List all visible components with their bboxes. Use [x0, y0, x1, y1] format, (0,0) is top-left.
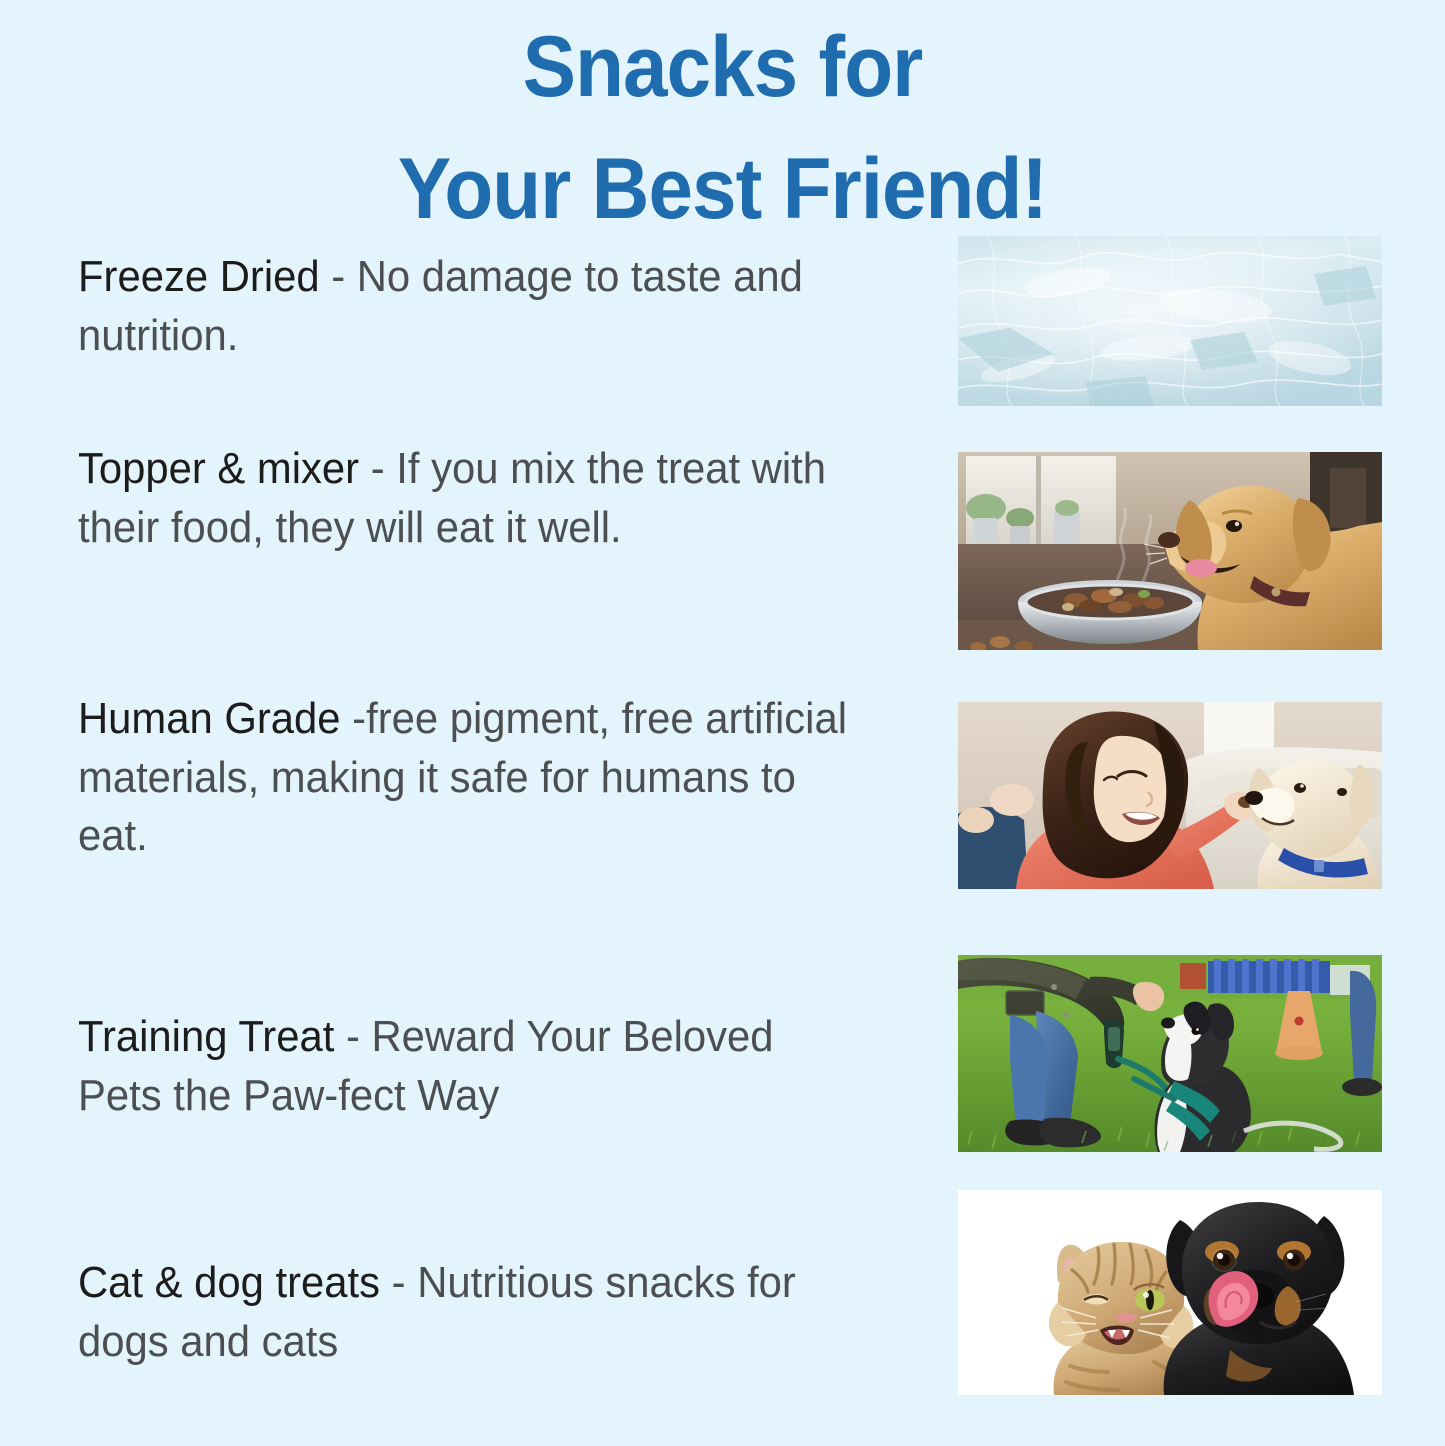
cat-and-dog-portrait-photo — [958, 1190, 1382, 1395]
feature-text-human-grade: Human Grade -free pigment, free artifici… — [78, 690, 867, 866]
title-line-2: Your Best Friend! — [51, 128, 1395, 250]
feature-lead-cat-dog-treats: Cat & dog treats — [78, 1258, 380, 1307]
feature-text-training-treat: Training Treat - Reward Your Beloved Pet… — [78, 1008, 867, 1125]
feature-lead-topper-mixer: Topper & mixer — [78, 444, 359, 493]
title-line-1: Snacks for — [51, 6, 1395, 128]
feature-lead-human-grade: Human Grade — [78, 694, 341, 743]
frozen-ice-texture-photo — [958, 236, 1382, 406]
feature-text-freeze-dried: Freeze Dried - No damage to taste and nu… — [78, 248, 867, 365]
golden-retriever-with-food-bowl-photo — [958, 452, 1382, 650]
feature-lead-training-treat: Training Treat — [78, 1012, 334, 1061]
page-title: Snacks for Your Best Friend! — [0, 6, 1445, 250]
woman-feeding-puppy-photo — [958, 702, 1382, 889]
dog-training-on-grass-photo — [958, 955, 1382, 1152]
infographic-page: Snacks for Your Best Friend! Freeze Drie… — [0, 0, 1445, 1446]
feature-text-topper-mixer: Topper & mixer - If you mix the treat wi… — [78, 440, 867, 557]
feature-text-cat-dog-treats: Cat & dog treats - Nutritious snacks for… — [78, 1254, 867, 1371]
feature-lead-freeze-dried: Freeze Dried — [78, 252, 320, 301]
